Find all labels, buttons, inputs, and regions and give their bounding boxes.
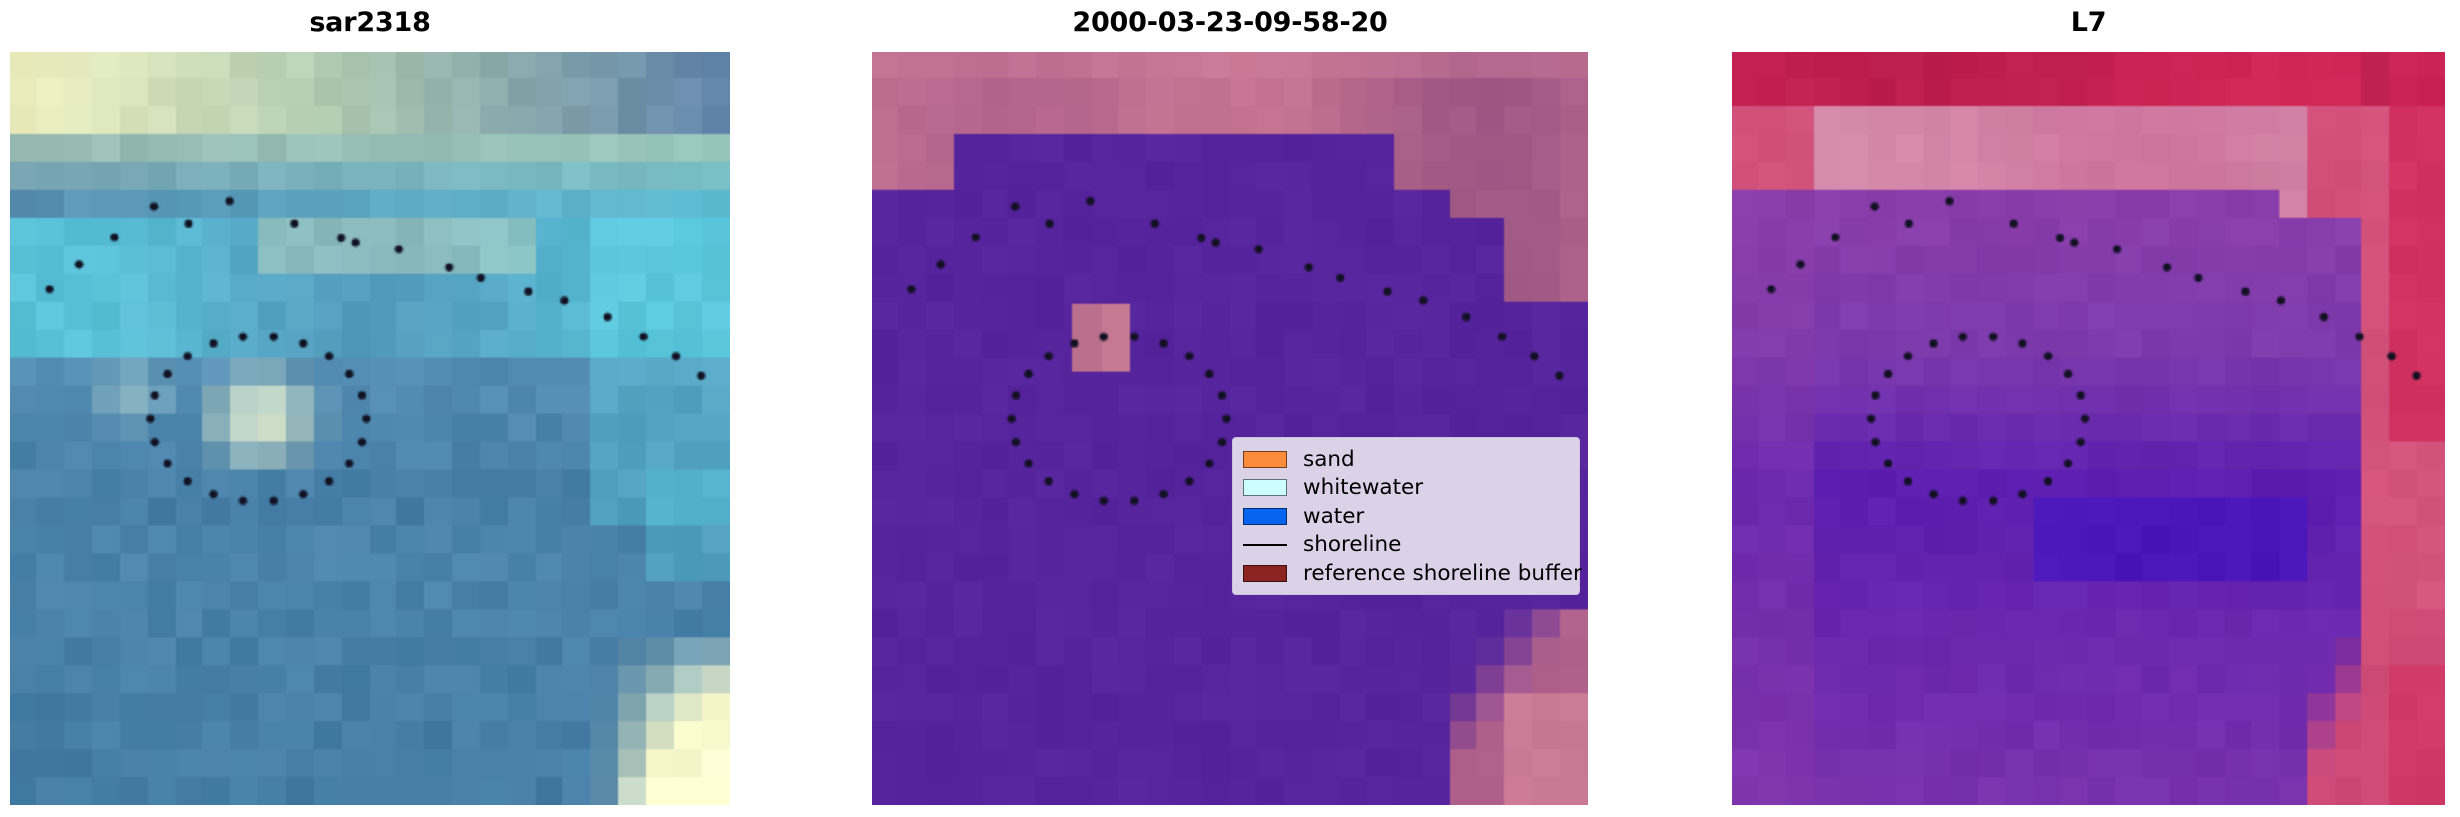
panel-title-l7: L7	[1732, 6, 2445, 46]
legend-label-sand: sand	[1303, 449, 1355, 471]
sand-swatch-icon	[1243, 451, 1287, 468]
panel-classification-timestamp	[872, 52, 1588, 805]
figure-root: sar2318 2000-03-23-09-58-20 L7 sand whit…	[0, 0, 2460, 817]
panel-sar2318	[10, 52, 730, 805]
reference-buffer-swatch-icon	[1243, 565, 1287, 582]
legend-label-water: water	[1303, 506, 1364, 528]
panel-title-timestamp: 2000-03-23-09-58-20	[872, 6, 1588, 46]
raster-sar2318	[10, 52, 730, 805]
legend-label-shoreline: shoreline	[1303, 534, 1401, 556]
legend-item-whitewater: whitewater	[1243, 474, 1571, 503]
legend-item-reference-buffer: reference shoreline buffer	[1243, 559, 1571, 588]
legend-item-sand: sand	[1243, 445, 1571, 474]
legend-item-shoreline: shoreline	[1243, 531, 1571, 560]
panel-title-sar: sar2318	[10, 6, 730, 46]
water-swatch-icon	[1243, 508, 1287, 525]
raster-classification-timestamp	[872, 52, 1588, 805]
shoreline-line-icon	[1243, 537, 1287, 554]
raster-classification-l7	[1732, 52, 2445, 805]
legend-label-reference-buffer: reference shoreline buffer	[1303, 563, 1582, 585]
legend-item-water: water	[1243, 502, 1571, 531]
whitewater-swatch-icon	[1243, 479, 1287, 496]
legend: sand whitewater water shoreline referenc…	[1232, 437, 1580, 595]
panel-classification-l7	[1732, 52, 2445, 805]
legend-label-whitewater: whitewater	[1303, 477, 1423, 499]
